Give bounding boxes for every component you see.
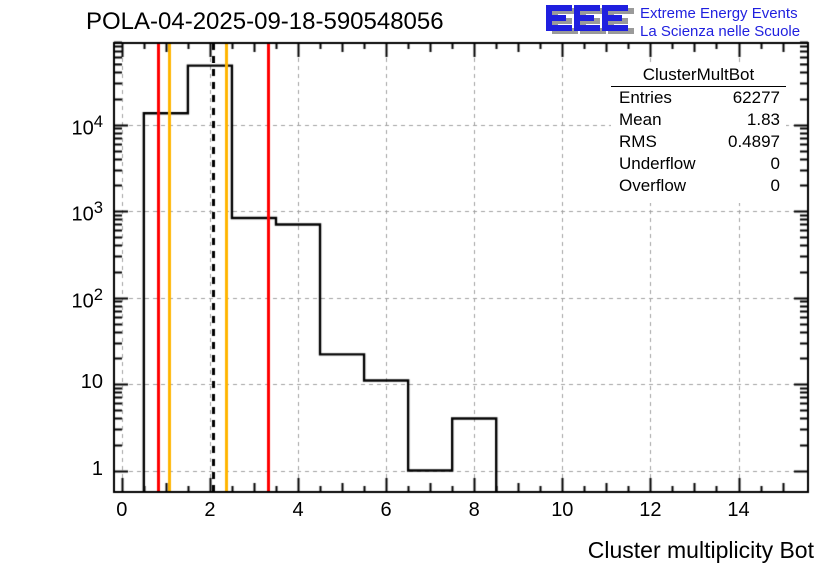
logo-line1: Extreme Energy Events (640, 5, 798, 22)
stats-value: 0.4897 (728, 131, 780, 153)
stats-value: 62277 (733, 87, 780, 109)
eee-logo-mark (546, 5, 634, 34)
stats-key: Entries (619, 87, 672, 109)
x-tick-label: 4 (292, 499, 303, 522)
x-axis-title: Cluster multiplicity Bot (588, 537, 814, 564)
page-title: POLA-04-2025-09-18-590548056 (86, 8, 444, 36)
y-tick-label: 104 (0, 112, 103, 141)
stats-title: ClusterMultBot (611, 63, 786, 87)
x-tick-label: 8 (469, 499, 480, 522)
stats-row: Entries62277 (611, 87, 786, 109)
stats-value: 0 (771, 175, 780, 197)
stats-key: Underflow (619, 153, 696, 175)
y-tick-label: 103 (0, 198, 103, 227)
stats-key: RMS (619, 131, 657, 153)
x-tick-label: 2 (204, 499, 215, 522)
stats-value: 0 (771, 153, 780, 175)
stats-value: 1.83 (747, 109, 780, 131)
stats-rows: Entries62277Mean1.83RMS0.4897Underflow0O… (611, 87, 786, 197)
stats-row: RMS0.4897 (611, 131, 786, 153)
x-tick-label: 10 (551, 499, 573, 522)
x-tick-label: 14 (727, 499, 749, 522)
stats-row: Underflow0 (611, 153, 786, 175)
stats-row: Overflow0 (611, 175, 786, 197)
stats-row: Mean1.83 (611, 109, 786, 131)
eee-logo: Extreme Energy Events La Scienza nelle S… (540, 3, 832, 41)
stats-key: Mean (619, 109, 662, 131)
y-tick-label: 102 (0, 285, 103, 314)
x-tick-label: 0 (116, 499, 127, 522)
x-tick-label: 12 (639, 499, 661, 522)
y-tick-label: 10 (0, 371, 103, 394)
stats-box: ClusterMultBot Entries62277Mean1.83RMS0.… (611, 63, 786, 203)
y-tick-label: 1 (0, 458, 103, 481)
stats-key: Overflow (619, 175, 686, 197)
logo-line2: La Scienza nelle Scuole (640, 23, 800, 40)
x-tick-label: 6 (381, 499, 392, 522)
